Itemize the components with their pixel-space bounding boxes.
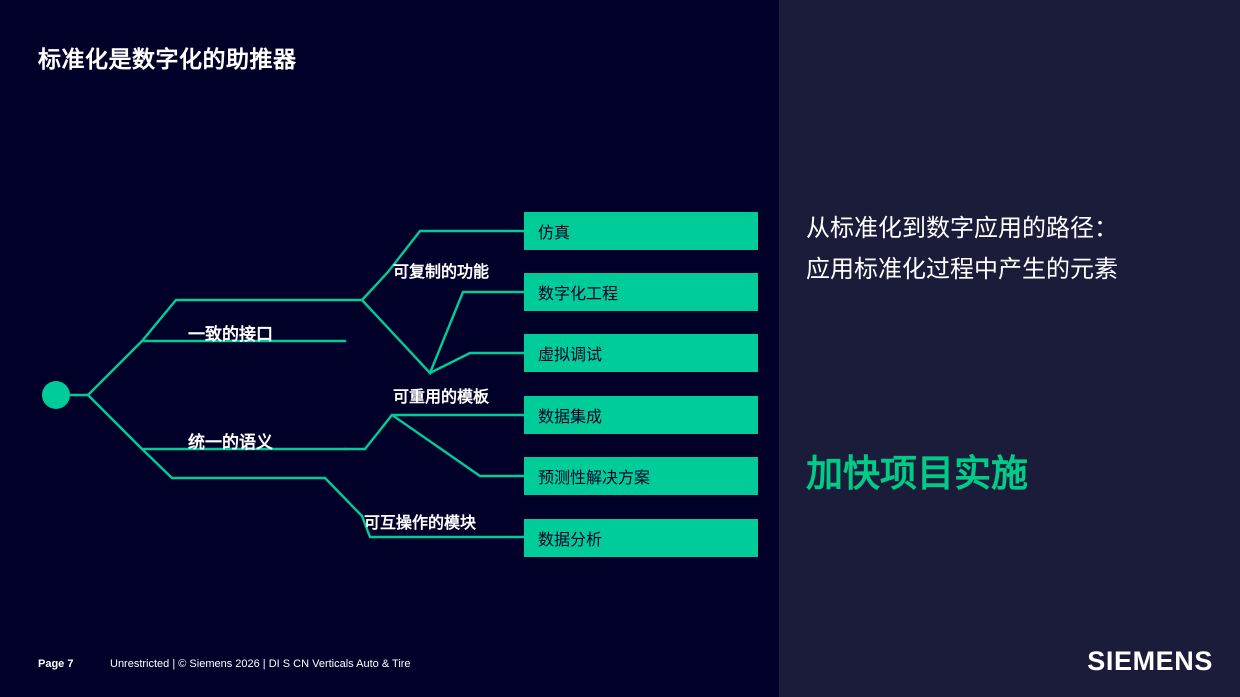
connector-template-to-data-integration — [365, 415, 524, 449]
leaf-box-data-integration[interactable]: 数据集成 — [524, 396, 758, 434]
node-label-reusable-function[interactable]: 可复制的功能 — [393, 258, 489, 282]
leaf-box-digital-engineering[interactable]: 数字化工程 — [524, 273, 758, 311]
slide-canvas: 标准化是数字化的助推器 — [0, 0, 1240, 697]
connector-semantics-to-interoperable-module — [142, 449, 362, 516]
node-label-unified-semantics[interactable]: 统一的语义 — [188, 428, 273, 453]
right-panel-subhead-line2: 应用标准化过程中产生的元素 — [806, 249, 1226, 290]
leaf-box-simulation[interactable]: 仿真 — [524, 212, 758, 250]
right-panel — [779, 0, 1240, 697]
right-panel-subhead-line1: 从标准化到数字应用的路径： — [806, 208, 1226, 249]
leaf-box-data-analytics[interactable]: 数据分析 — [524, 519, 758, 557]
node-label-reusable-template[interactable]: 可重用的模板 — [393, 383, 489, 407]
siemens-logo: SIEMENS — [1087, 646, 1213, 677]
footer: Page 7 Unrestricted | © Siemens 2026 | D… — [38, 658, 411, 670]
connector-func-to-virtual-commissioning — [430, 353, 524, 373]
leaf-box-virtual-commissioning[interactable]: 虚拟调试 — [524, 334, 758, 372]
tree-diagram: 一致的接口 统一的语义 可复制的功能 可重用的模板 可互操作的模块 仿真 数字化… — [0, 0, 779, 697]
connector-template-to-predictive — [392, 415, 524, 476]
connector-func-to-digital-engineering — [362, 292, 524, 373]
leaf-box-predictive-solution[interactable]: 预测性解决方案 — [524, 457, 758, 495]
right-panel-subhead: 从标准化到数字应用的路径： 应用标准化过程中产生的元素 — [806, 208, 1226, 290]
footer-page-number: Page 7 — [38, 658, 110, 670]
footer-copyright-note: Unrestricted | © Siemens 2026 | DI S CN … — [110, 658, 411, 670]
node-label-consistent-interface[interactable]: 一致的接口 — [188, 320, 273, 345]
right-panel-headline: 加快项目实施 — [806, 443, 1028, 497]
root-node-circle[interactable] — [42, 381, 70, 409]
connector-root-to-interface — [88, 341, 345, 395]
node-label-interoperable-module[interactable]: 可互操作的模块 — [364, 509, 476, 533]
